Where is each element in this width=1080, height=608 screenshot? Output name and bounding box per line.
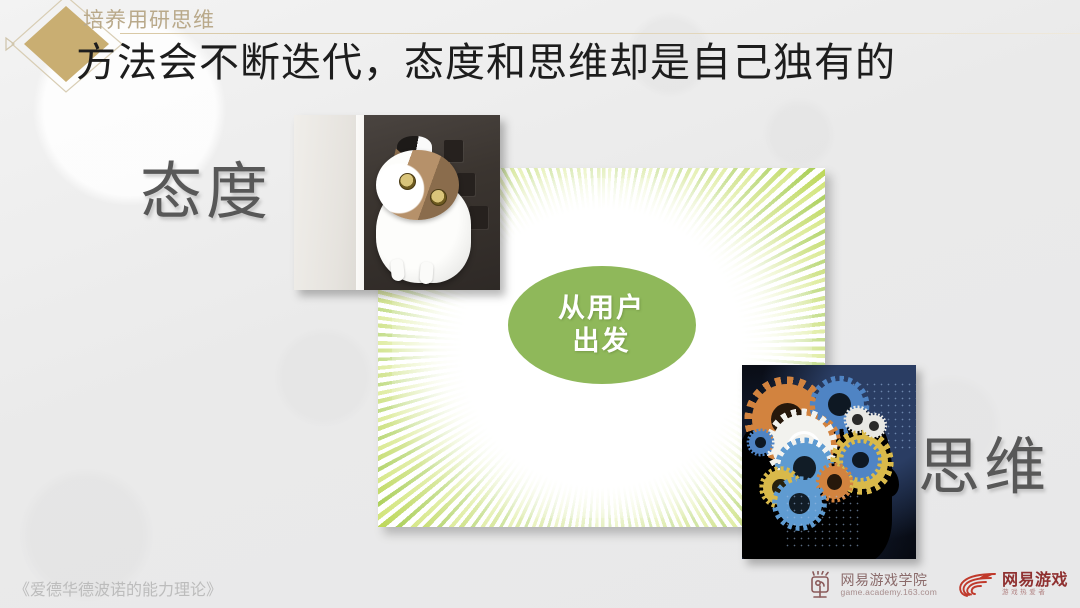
label-thinking: 思维	[918, 437, 1050, 499]
gear-tiny-blue	[749, 431, 772, 454]
citation-text: 《爱德华德波诺的能力理论》	[14, 576, 222, 600]
label-attitude: 态度	[140, 162, 272, 224]
user-first-ellipse: 从用户 出发	[508, 266, 696, 384]
cat-eye	[430, 189, 447, 206]
slide-kicker: 培养用研思维	[83, 4, 215, 34]
furniture-ridge	[457, 173, 476, 196]
ellipse-line-2: 出发	[573, 325, 631, 358]
netease-academy-logo: 网易游戏学院 game.academy.163.com	[808, 571, 937, 599]
academy-url: game.academy.163.com	[841, 588, 937, 597]
cat-photo	[294, 115, 500, 290]
brain-dot-grid	[784, 493, 861, 547]
cat-paw	[419, 262, 434, 285]
netease-logo-text: 网易游戏 游戏热爱者	[1002, 573, 1068, 597]
slide-title: 方法会不断迭代，态度和思维却是自己独有的	[76, 38, 896, 88]
netease-name: 网易游戏	[1002, 573, 1068, 590]
netease-tagline: 游戏热爱者	[1002, 590, 1068, 597]
academy-logo-text: 网易游戏学院 game.academy.163.com	[841, 573, 937, 597]
cat-paw	[390, 258, 405, 281]
header-divider	[120, 33, 1080, 34]
academy-figure-icon	[808, 571, 834, 599]
gear-tiny-white	[864, 415, 885, 436]
academy-name: 网易游戏学院	[841, 573, 937, 588]
presentation-slide: 培养用研思维 方法会不断迭代，态度和思维却是自己独有的 态度 从用户 出发	[0, 0, 1080, 608]
footer-logos: 网易游戏学院 game.academy.163.com 网易游戏 游戏热爱者	[808, 565, 1068, 605]
gear-brain-photo	[742, 365, 916, 559]
ellipse-line-1: 从用户	[558, 292, 645, 325]
furniture-ridge	[469, 206, 488, 229]
cat-eye	[399, 173, 416, 190]
furniture-ridge	[444, 140, 463, 163]
netease-wing-icon	[955, 570, 997, 600]
netease-games-logo: 网易游戏 游戏热爱者	[955, 570, 1068, 600]
cat-head	[376, 150, 458, 220]
